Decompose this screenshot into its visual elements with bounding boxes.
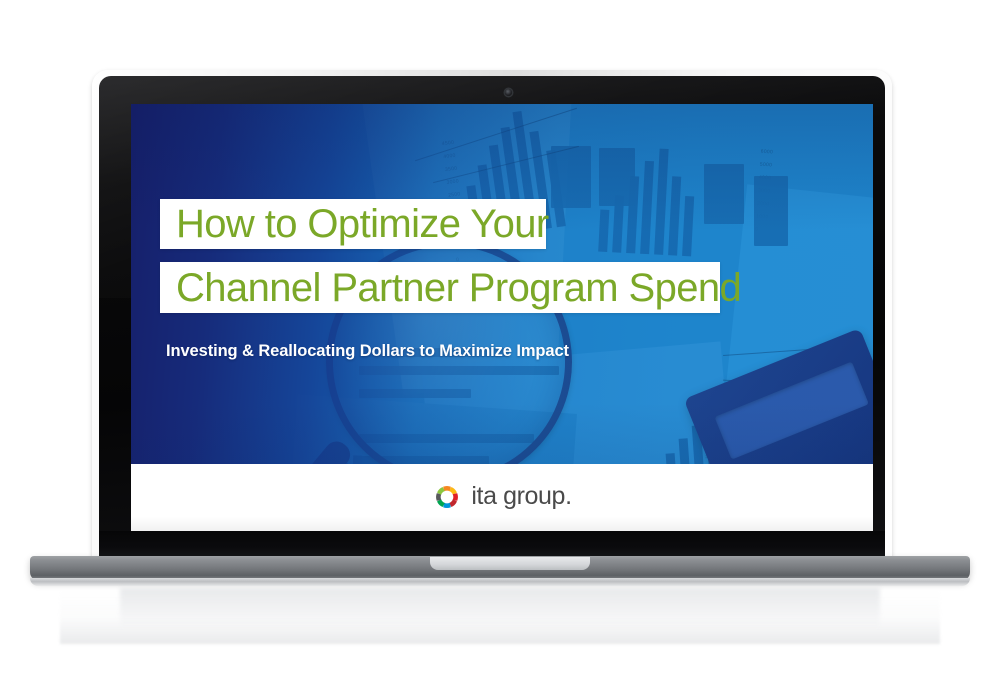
page-title-line-1: How to Optimize Your <box>176 204 549 244</box>
laptop-base-edge <box>30 578 970 586</box>
slide-content: How to Optimize Your Channel Partner Pro… <box>131 104 873 531</box>
page-title-line-2: Channel Partner Program Spend <box>176 268 741 308</box>
title-line-2-box: Channel Partner Program Spend <box>160 262 720 313</box>
laptop-reflection-highlight <box>120 588 880 628</box>
title-line-1-box: How to Optimize Your <box>160 199 546 249</box>
laptop-device: 4500400035003000 2500200015001000 5000 6… <box>0 0 1000 700</box>
ita-group-logo: ita group. <box>432 482 571 512</box>
slide-footer-band: ita group. <box>131 464 873 531</box>
webcam-icon <box>505 89 512 96</box>
screenshot-stage: 4500400035003000 2500200015001000 5000 6… <box>0 0 1000 700</box>
ita-group-wordmark: ita group. <box>471 484 571 509</box>
laptop-base-notch <box>430 557 590 570</box>
laptop-hinge-shadow <box>99 531 885 559</box>
slide-subtitle: Investing & Reallocating Dollars to Maxi… <box>166 342 569 361</box>
laptop-screen: 4500400035003000 2500200015001000 5000 6… <box>131 104 873 531</box>
ita-group-pinwheel-icon <box>432 482 462 512</box>
